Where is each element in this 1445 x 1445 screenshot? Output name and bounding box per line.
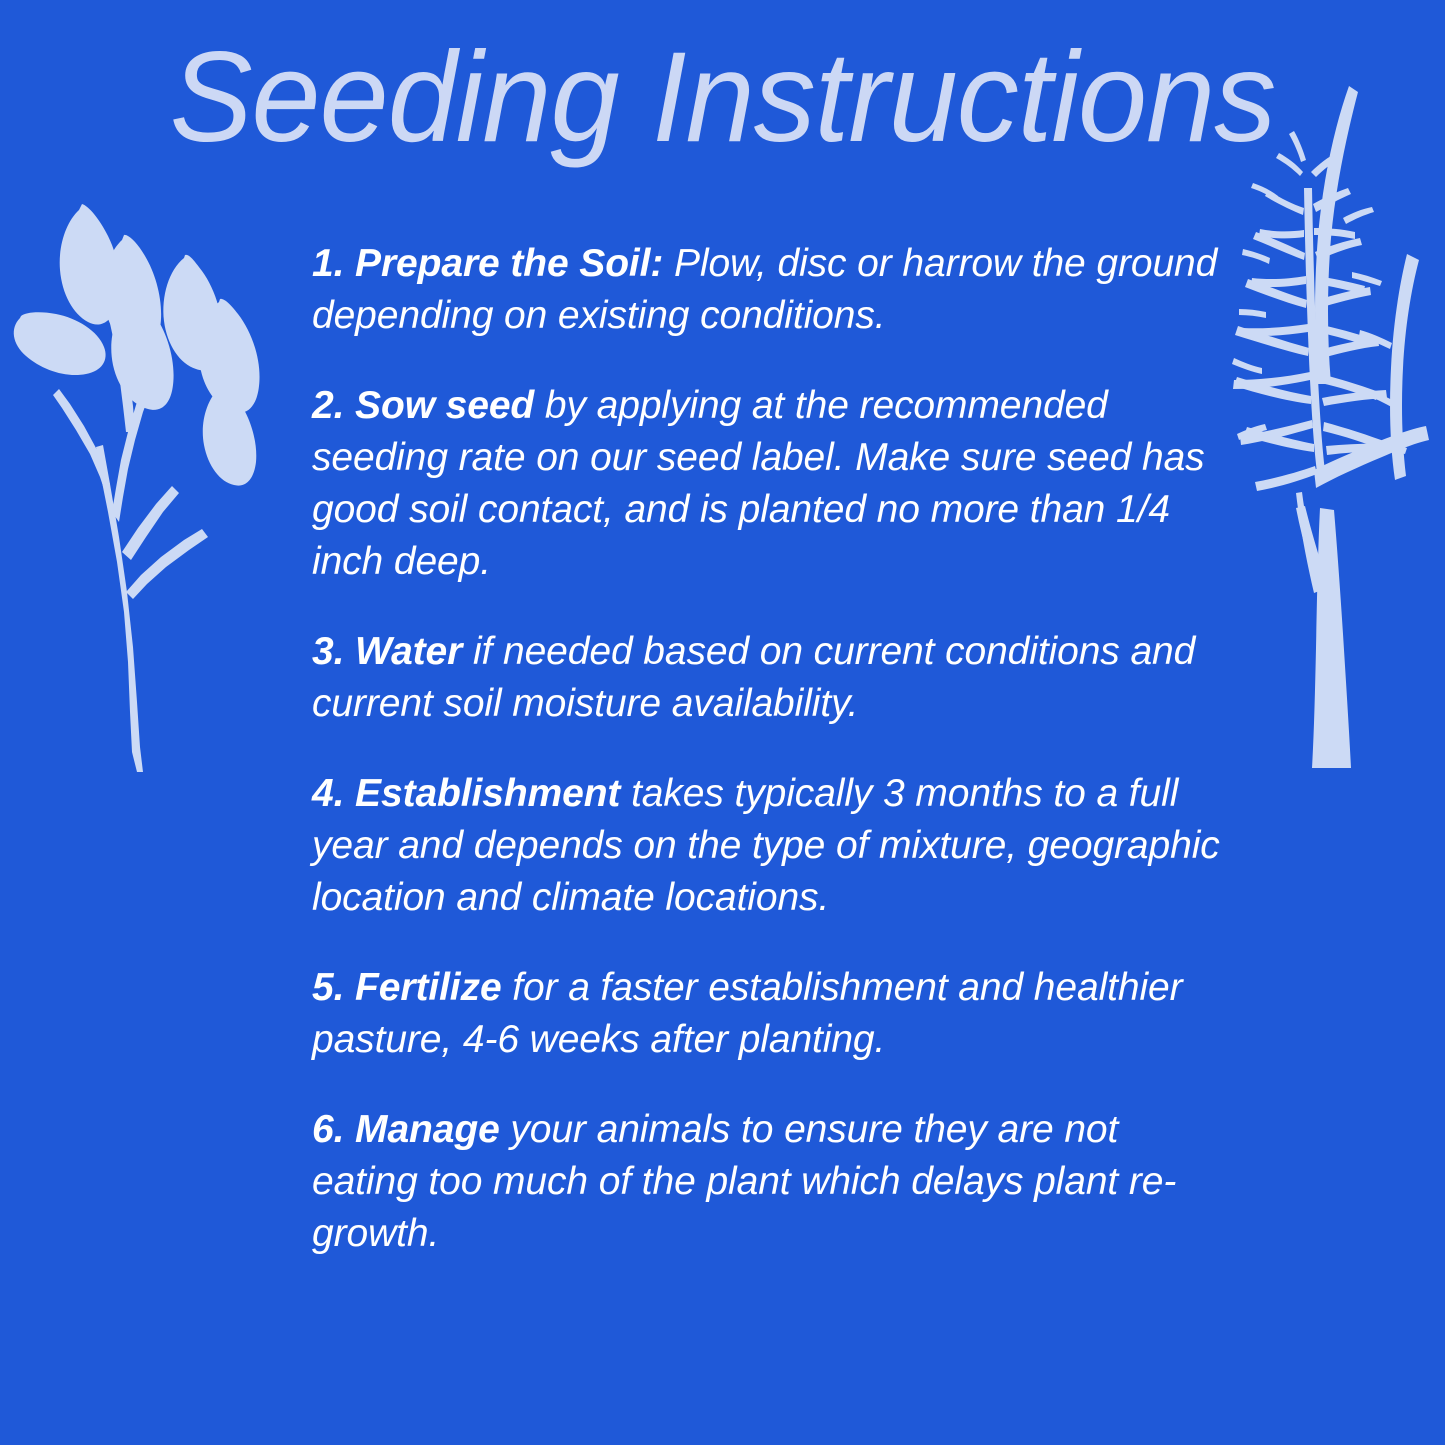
seed-pod-branch-illustration	[4, 192, 294, 772]
list-item: 1. Prepare the Soil: Plow, disc or harro…	[312, 238, 1224, 342]
step-lead: 1. Prepare the Soil:	[312, 242, 663, 285]
list-item: 4. Establishment takes typically 3 month…	[312, 768, 1224, 924]
list-item: 3. Water if needed based on current cond…	[312, 626, 1224, 730]
seeding-instructions-poster: Seeding Instructions	[0, 0, 1445, 1445]
list-item: 2. Sow seed by applying at the recommend…	[312, 380, 1224, 588]
grass-seed-head-illustration	[1210, 68, 1445, 783]
page-title: Seeding Instructions	[22, 34, 1424, 162]
step-lead: 5. Fertilize	[312, 966, 502, 1009]
list-item: 6. Manage your animals to ensure they ar…	[312, 1104, 1224, 1260]
list-item: 5. Fertilize for a faster establishment …	[312, 962, 1224, 1066]
step-lead: 4. Establishment	[312, 772, 620, 815]
step-lead: 2. Sow seed	[312, 384, 534, 427]
instructions-list: 1. Prepare the Soil: Plow, disc or harro…	[312, 238, 1224, 1260]
step-lead: 3. Water	[312, 630, 462, 673]
step-lead: 6. Manage	[312, 1108, 500, 1151]
